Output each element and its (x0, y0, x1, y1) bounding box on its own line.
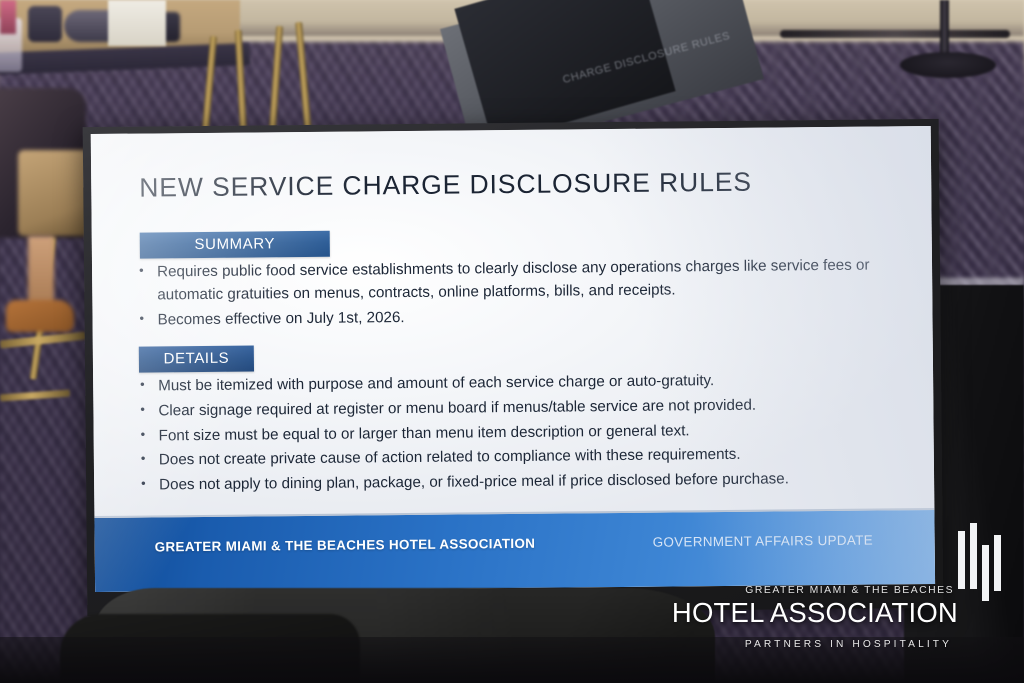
logo-watermark: GREATER MIAMI & THE BEACHES HOTEL ASSOCI… (744, 523, 1010, 675)
person-leg (28, 236, 54, 308)
logo-title: HOTEL ASSOCIATION (672, 597, 958, 629)
logo-bar (958, 531, 965, 589)
details-bullet-list: Must be itemized with purpose and amount… (137, 368, 898, 499)
logo-bar (982, 545, 989, 601)
logo-subtitle: GREATER MIAMI & THE BEACHES (745, 585, 954, 596)
logo-bar (970, 523, 977, 589)
section-badge-summary: SUMMARY (140, 231, 330, 259)
mic-stand-pole (940, 0, 949, 58)
floor-cable (780, 30, 1010, 38)
list-item: Becomes effective on July 1st, 2026. (136, 302, 896, 332)
shoe (6, 300, 74, 332)
table-object-a (28, 6, 62, 42)
hotel-association-bars-icon (956, 523, 1004, 601)
logo-bar (994, 535, 1001, 591)
list-item: Does not apply to dining plan, package, … (138, 467, 898, 497)
summary-bullet-list: Requires public food service establishme… (136, 254, 897, 334)
pink-bottle (0, 0, 16, 34)
mic-stand-base (900, 52, 996, 78)
list-item: Requires public food service establishme… (136, 254, 896, 307)
footer-organization-name: GREATER MIAMI & THE BEACHES HOTEL ASSOCI… (155, 536, 536, 555)
photo-scene: CHARGE DISCLOSURE RULES NEW SERVICE CHAR… (0, 0, 1024, 683)
slide-title: NEW SERVICE CHARGE DISCLOSURE RULES (139, 167, 752, 204)
handbag (18, 150, 90, 236)
section-badge-details: DETAILS (139, 345, 254, 372)
logo-tagline: PARTNERS IN HOSPITALITY (745, 639, 952, 650)
table-tent-card (108, 0, 166, 46)
